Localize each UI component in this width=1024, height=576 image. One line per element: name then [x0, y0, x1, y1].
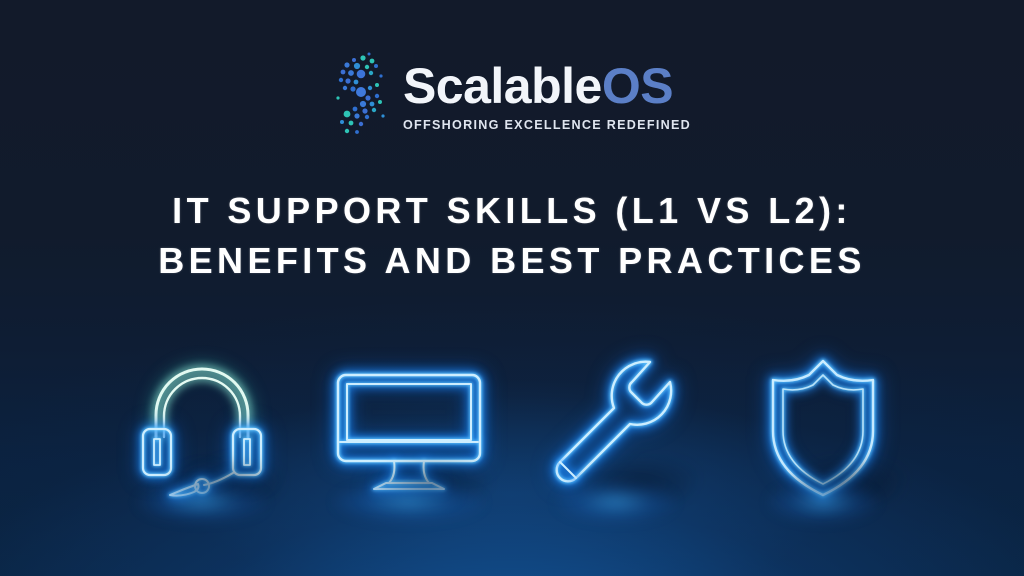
- hero-banner: ScalableOS OFFSHORING EXCELLENCE REDEFIN…: [0, 0, 1024, 576]
- wrench-icon: [546, 352, 686, 504]
- page-title: IT SUPPORT SKILLS (L1 VS L2): BENEFITS A…: [0, 186, 1024, 286]
- logo-tagline: OFFSHORING EXCELLENCE REDEFINED: [403, 118, 691, 132]
- monitor-icon: [334, 353, 484, 503]
- title-line-1: IT SUPPORT SKILLS (L1 VS L2):: [0, 186, 1024, 236]
- logo-word-primary: Scalable: [403, 58, 602, 114]
- icon-cell-headset: [98, 338, 305, 518]
- scalableos-dotted-s-mark: [333, 52, 391, 140]
- brand-logo: ScalableOS OFFSHORING EXCELLENCE REDEFIN…: [0, 52, 1024, 140]
- shield-icon: [763, 353, 883, 503]
- icon-cell-shield: [719, 338, 926, 518]
- logo-wordmark: ScalableOS: [403, 61, 691, 111]
- headset-icon: [136, 353, 268, 503]
- icon-cell-wrench: [512, 338, 719, 518]
- logo-word-accent: OS: [602, 58, 673, 114]
- title-line-2: BENEFITS AND BEST PRACTICES: [0, 236, 1024, 286]
- icon-cell-monitor: [305, 338, 512, 518]
- neon-icon-row: [0, 338, 1024, 518]
